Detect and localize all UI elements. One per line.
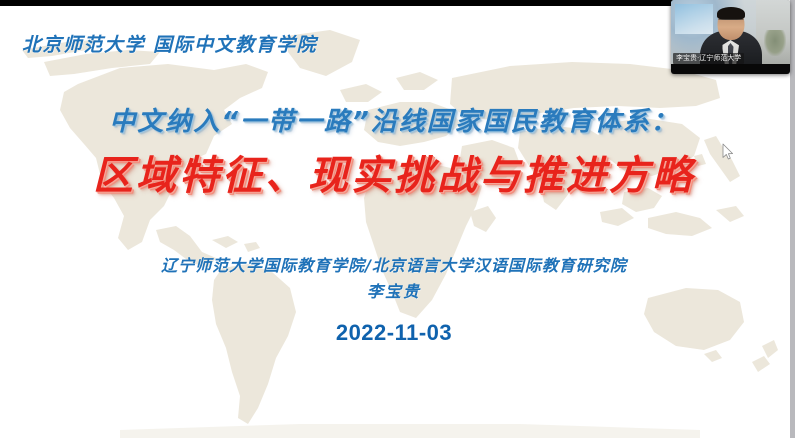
world-map-watermark <box>0 6 788 438</box>
right-edge-strip <box>790 0 795 438</box>
speaker-glasses <box>718 19 743 25</box>
background-window <box>675 4 713 34</box>
presentation-date: 2022-11-03 <box>0 320 788 346</box>
screen-capture: 北京师范大学 国际中文教育学院 中文纳入“一带一路”沿线国家国民教育体系： 区域… <box>0 0 795 438</box>
affiliation-block: 辽宁师范大学国际教育学院/北京语言大学汉语国际教育研究院 李宝贵 <box>0 254 788 304</box>
presentation-slide: 北京师范大学 国际中文教育学院 中文纳入“一带一路”沿线国家国民教育体系： 区域… <box>0 6 788 438</box>
video-participant-tile[interactable]: 李宝贵·辽宁师范大学 <box>671 0 790 74</box>
author-name: 李宝贵 <box>0 280 788 304</box>
institution-header: 北京师范大学 国际中文教育学院 <box>22 30 317 57</box>
title-line-2: 区域特征、现实挑战与推进方略 <box>0 150 788 202</box>
title-block: 中文纳入“一带一路”沿线国家国民教育体系： 区域特征、现实挑战与推进方略 <box>0 102 788 202</box>
background-plant <box>764 30 786 56</box>
video-bottom-bar <box>671 64 790 74</box>
title-line-1: 中文纳入“一带一路”沿线国家国民教育体系： <box>0 102 788 142</box>
participant-name-badge: 李宝贵·辽宁师范大学 <box>673 53 744 64</box>
affiliation-text: 辽宁师范大学国际教育学院/北京语言大学汉语国际教育研究院 <box>0 254 788 278</box>
